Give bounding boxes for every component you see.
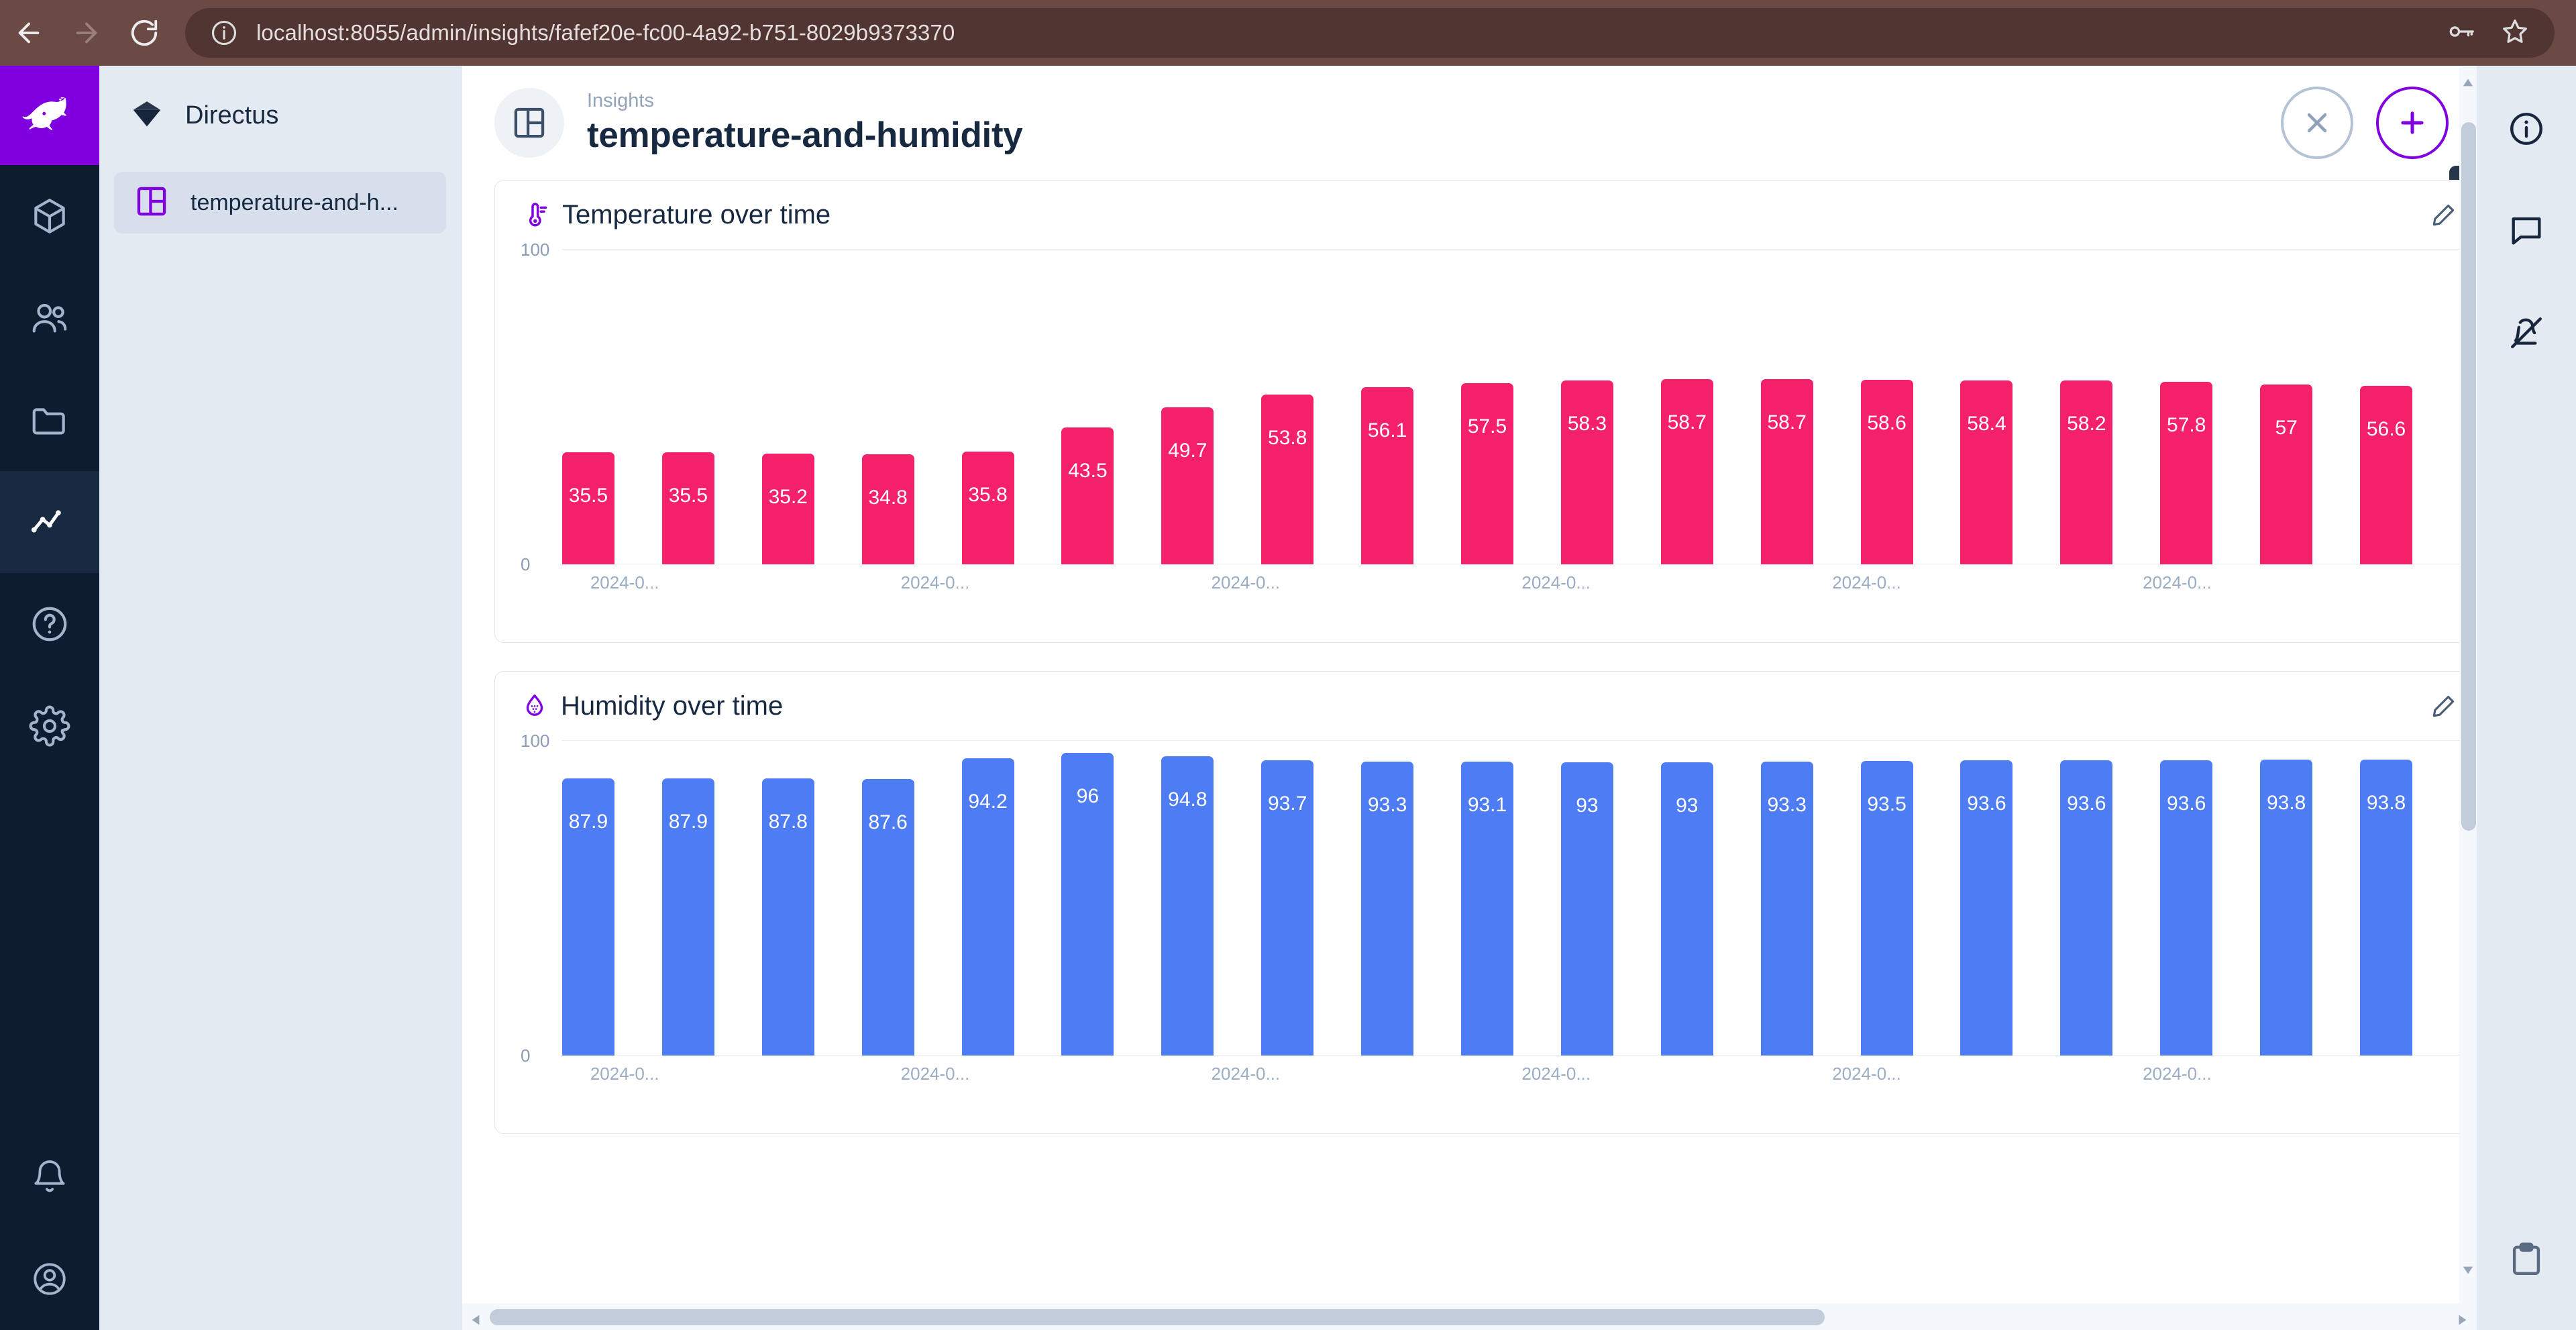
- site-info-icon[interactable]: [209, 18, 239, 48]
- chart-bar[interactable]: 93: [1561, 762, 1613, 1056]
- chart-bar-value: 49.7: [1168, 440, 1207, 462]
- chart-bar[interactable]: 43.5: [1061, 427, 1114, 564]
- chart-bar[interactable]: 93.7: [1261, 760, 1313, 1056]
- nav-sidebar: Directus temperature-and-h...: [99, 66, 462, 1330]
- module-icon-files[interactable]: [0, 369, 99, 471]
- chart-bar[interactable]: 34.8: [862, 454, 914, 564]
- chart-plot-area: 100 0 35.535.535.234.835.843.549.753.856…: [521, 249, 2515, 564]
- sidebar-header: Directus: [99, 66, 461, 165]
- water-drop-icon: [521, 692, 549, 720]
- chart-bar[interactable]: 49.7: [1161, 407, 1214, 564]
- clipboard-icon[interactable]: [2477, 1240, 2576, 1279]
- password-key-icon[interactable]: [2446, 16, 2477, 50]
- chart-bar-value: 58.4: [1967, 413, 2006, 436]
- scroll-left-arrow[interactable]: [470, 1314, 482, 1326]
- panels-container: Temperature over time 100 0: [462, 180, 2576, 1288]
- chart-bar[interactable]: 58.3: [1561, 380, 1613, 564]
- x-axis-tick-label: 2024-0...: [2143, 1064, 2212, 1084]
- panel-header: Temperature over time: [495, 181, 2543, 249]
- chart-bar[interactable]: 93.8: [2260, 760, 2312, 1056]
- bar-group-temperature: 35.535.535.234.835.843.549.753.856.157.5…: [562, 249, 2512, 564]
- chart-bar-value: 94.8: [1168, 788, 1207, 811]
- right-sidebar: [2477, 66, 2576, 1330]
- chart-bar-value: 58.3: [1568, 413, 1607, 436]
- x-axis-tick-label: 2024-0...: [1832, 1064, 1901, 1084]
- chart-bar[interactable]: 57: [2260, 385, 2312, 564]
- chart-bar[interactable]: 58.7: [1761, 379, 1813, 564]
- panel-header: Humidity over time: [495, 672, 2543, 740]
- scroll-up-arrow[interactable]: [2462, 76, 2474, 89]
- module-icon-help[interactable]: [0, 573, 99, 675]
- chart-bar-value: 93.3: [1767, 794, 1806, 817]
- chart-bar-value: 53.8: [1268, 427, 1307, 450]
- chart-bar[interactable]: 93.8: [2360, 760, 2412, 1056]
- chart-bar-value: 93: [1576, 795, 1598, 817]
- chart-bar[interactable]: 93.6: [2060, 760, 2112, 1056]
- breadcrumb[interactable]: Insights: [587, 90, 1022, 112]
- chart-bar-value: 87.9: [669, 811, 708, 833]
- dashboard-panel-icon: [494, 88, 564, 158]
- y-axis-max-label: 100: [521, 240, 549, 260]
- x-axis-tick-label: 2024-0...: [901, 1064, 970, 1084]
- chart-bar-value: 35.5: [669, 484, 708, 507]
- chart-bar-value: 56.1: [1368, 419, 1407, 442]
- chart-bar[interactable]: 93.3: [1361, 762, 1413, 1056]
- forward-button[interactable]: [58, 4, 115, 62]
- browser-chrome: localhost:8055/admin/insights/fafef20e-f…: [0, 0, 2576, 66]
- x-axis-tick-label: 2024-0...: [1832, 572, 1901, 593]
- x-axis-labels-temperature: 2024-0...2024-0...2024-0...2024-0...2024…: [562, 564, 2515, 602]
- chart-bar[interactable]: 58.2: [2060, 380, 2112, 564]
- chart-bar-value: 87.9: [569, 811, 608, 833]
- chart-bar[interactable]: 96: [1061, 753, 1114, 1056]
- chart-bar[interactable]: 93.6: [2160, 760, 2212, 1056]
- x-axis-tick-label: 2024-0...: [590, 572, 659, 593]
- scroll-right-arrow[interactable]: [2457, 1314, 2469, 1326]
- chart-plot-area: 100 0 87.987.987.887.694.29694.893.793.3…: [521, 740, 2515, 1056]
- panel-title: Temperature over time: [562, 200, 830, 230]
- reload-button[interactable]: [115, 4, 173, 62]
- chart-bar-value: 93.7: [1268, 792, 1307, 815]
- x-axis-tick-label: 2024-0...: [1521, 572, 1591, 593]
- main-content: Insights temperature-and-humidity Save: [462, 66, 2576, 1330]
- address-bar[interactable]: localhost:8055/admin/insights/fafef20e-f…: [185, 8, 2555, 58]
- chart-bar[interactable]: 57.5: [1461, 383, 1513, 564]
- horizontal-scrollbar-thumb[interactable]: [490, 1309, 1825, 1325]
- bar-group-humidity: 87.987.987.887.694.29694.893.793.393.193…: [562, 740, 2512, 1056]
- directus-diamond-icon: [129, 96, 165, 136]
- vertical-scrollbar-thumb[interactable]: [2461, 122, 2476, 831]
- chart-bar-value: 58.2: [2067, 413, 2106, 436]
- chart-bar[interactable]: 93.5: [1861, 761, 1913, 1056]
- chart-bar-value: 93.6: [2067, 792, 2106, 815]
- chart-bar-value: 43.5: [1068, 460, 1107, 482]
- chart-bar[interactable]: 93.3: [1761, 762, 1813, 1056]
- chart-bar-value: 56.6: [2367, 418, 2406, 441]
- url-text: localhost:8055/admin/insights/fafef20e-f…: [256, 20, 955, 46]
- module-bar: [0, 66, 99, 1330]
- sidebar-item-label: temperature-and-h...: [191, 190, 398, 216]
- sidebar-title: Directus: [185, 101, 278, 130]
- module-icon-account[interactable]: [0, 1228, 99, 1330]
- directus-rabbit-logo[interactable]: [0, 66, 99, 165]
- chart-bar-value: 93: [1676, 795, 1698, 817]
- chart-bar-value: 35.8: [968, 484, 1007, 507]
- close-button[interactable]: [2281, 87, 2353, 159]
- chart-bar[interactable]: 57.8: [2160, 382, 2212, 564]
- chart-bar-value: 93.6: [2167, 792, 2206, 815]
- x-axis-tick-label: 2024-0...: [1212, 572, 1281, 593]
- scroll-down-arrow[interactable]: [2462, 1264, 2474, 1276]
- y-axis-min-label: 0: [521, 554, 530, 575]
- chart-bar[interactable]: 35.8: [962, 452, 1014, 564]
- chart-bar-value: 58.6: [1867, 412, 1906, 435]
- page-title: temperature-and-humidity: [587, 115, 1022, 156]
- info-circle-icon[interactable]: [2477, 78, 2576, 180]
- chart-bar[interactable]: 56.1: [1361, 387, 1413, 564]
- directus-app: Directus temperature-and-h... Insights t…: [0, 66, 2576, 1330]
- chart-bar-value: 35.5: [569, 484, 608, 507]
- module-icon-notifications[interactable]: [0, 1126, 99, 1228]
- panel-title: Humidity over time: [561, 691, 783, 721]
- add-panel-button[interactable]: [2376, 87, 2449, 159]
- chart-bar[interactable]: 87.6: [862, 779, 914, 1056]
- pencil-icon[interactable]: [2429, 200, 2459, 229]
- y-axis-min-label: 0: [521, 1045, 530, 1066]
- chart-bar[interactable]: 58.4: [1960, 380, 2012, 564]
- panel-temperature: Temperature over time 100 0: [494, 180, 2544, 643]
- y-axis-max-label: 100: [521, 731, 549, 752]
- chart-bar[interactable]: 58.6: [1861, 380, 1913, 564]
- sidebar-item-temperature-and-humidity[interactable]: temperature-and-h...: [114, 172, 446, 234]
- x-axis-tick-label: 2024-0...: [2143, 572, 2212, 593]
- module-icon-users[interactable]: [0, 267, 99, 369]
- chart-bar[interactable]: 87.8: [762, 778, 814, 1056]
- pencil-icon[interactable]: [2429, 691, 2459, 721]
- chart-bar[interactable]: 94.8: [1161, 756, 1214, 1056]
- chart-bar-value: 93.8: [2267, 792, 2306, 815]
- x-axis-tick-label: 2024-0...: [1212, 1064, 1281, 1084]
- chart-bar-value: 57.5: [1468, 415, 1507, 438]
- panel-humidity: Humidity over time 100 0: [494, 671, 2544, 1134]
- chart-bar[interactable]: 93: [1661, 762, 1713, 1056]
- chart-bar-value: 93.8: [2367, 792, 2406, 815]
- chart-bar[interactable]: 35.5: [662, 452, 714, 564]
- comment-icon[interactable]: [2477, 180, 2576, 282]
- chart-bar[interactable]: 87.9: [662, 778, 714, 1056]
- chart-bar-value: 96: [1077, 785, 1099, 808]
- chart-bar-value: 93.6: [1967, 792, 2006, 815]
- chart-bar[interactable]: 87.9: [562, 778, 614, 1056]
- x-axis-tick-label: 2024-0...: [1521, 1064, 1591, 1084]
- chart-bar-value: 58.7: [1767, 411, 1806, 434]
- chart-bar[interactable]: 35.2: [762, 454, 814, 564]
- chart-bar[interactable]: 56.6: [2360, 386, 2412, 564]
- chart-bar[interactable]: 53.8: [1261, 395, 1313, 564]
- x-axis-labels-humidity: 2024-0...2024-0...2024-0...2024-0...2024…: [562, 1056, 2515, 1093]
- chart-bar-value: 57: [2275, 417, 2297, 440]
- chart-bar-value: 93.1: [1468, 794, 1507, 817]
- chart-bar-value: 35.2: [769, 486, 808, 509]
- module-icon-insights[interactable]: [0, 471, 99, 573]
- chart-bar-value: 93.5: [1867, 793, 1906, 816]
- thermometer-icon: [521, 200, 550, 229]
- chart-bar-value: 57.8: [2167, 414, 2206, 437]
- chart-bar[interactable]: 58.7: [1661, 379, 1713, 564]
- chart-bar[interactable]: 94.2: [962, 758, 1014, 1056]
- chart-bar-value: 93.3: [1368, 794, 1407, 817]
- address-bar-actions: [2426, 16, 2530, 50]
- chart-bar[interactable]: 93.6: [1960, 760, 2012, 1056]
- bookmark-star-icon[interactable]: [2500, 16, 2530, 50]
- chart-humidity: 100 0 87.987.987.887.694.29694.893.793.3…: [495, 740, 2543, 1093]
- bell-slash-icon[interactable]: [2477, 282, 2576, 384]
- chart-temperature: 100 0 35.535.535.234.835.843.549.753.856…: [495, 249, 2543, 602]
- title-block: Insights temperature-and-humidity: [587, 90, 1022, 156]
- chart-bar[interactable]: 35.5: [562, 452, 614, 564]
- chart-bar-value: 87.6: [868, 811, 907, 834]
- module-icon-settings[interactable]: [0, 675, 99, 777]
- x-axis-tick-label: 2024-0...: [901, 572, 970, 593]
- chart-bar[interactable]: 93.1: [1461, 762, 1513, 1056]
- x-axis-tick-label: 2024-0...: [590, 1064, 659, 1084]
- back-button[interactable]: [0, 4, 58, 62]
- page-header: Insights temperature-and-humidity Save: [462, 66, 2576, 180]
- module-icon-content[interactable]: [0, 165, 99, 267]
- dashboard-panel-icon: [134, 184, 169, 222]
- chart-bar-value: 58.7: [1668, 411, 1707, 434]
- chart-bar-value: 87.8: [769, 811, 808, 833]
- chart-bar-value: 34.8: [868, 487, 907, 509]
- chart-bar-value: 94.2: [968, 790, 1007, 813]
